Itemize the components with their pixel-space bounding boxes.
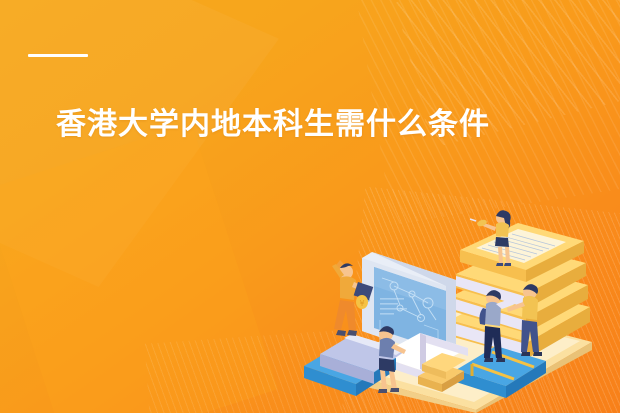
accent-divider-rule [28, 54, 88, 57]
page-title: 香港大学内地本科生需什么条件 [56, 107, 490, 143]
background-polygon-b [0, 123, 278, 413]
promo-banner: 香港大学内地本科生需什么条件 [0, 0, 620, 413]
svg-text:¥: ¥ [359, 299, 364, 308]
isometric-education-illustration: ¥ [300, 170, 620, 413]
background-polygon-a [0, 0, 279, 287]
coin-accent: ¥ [356, 295, 368, 309]
